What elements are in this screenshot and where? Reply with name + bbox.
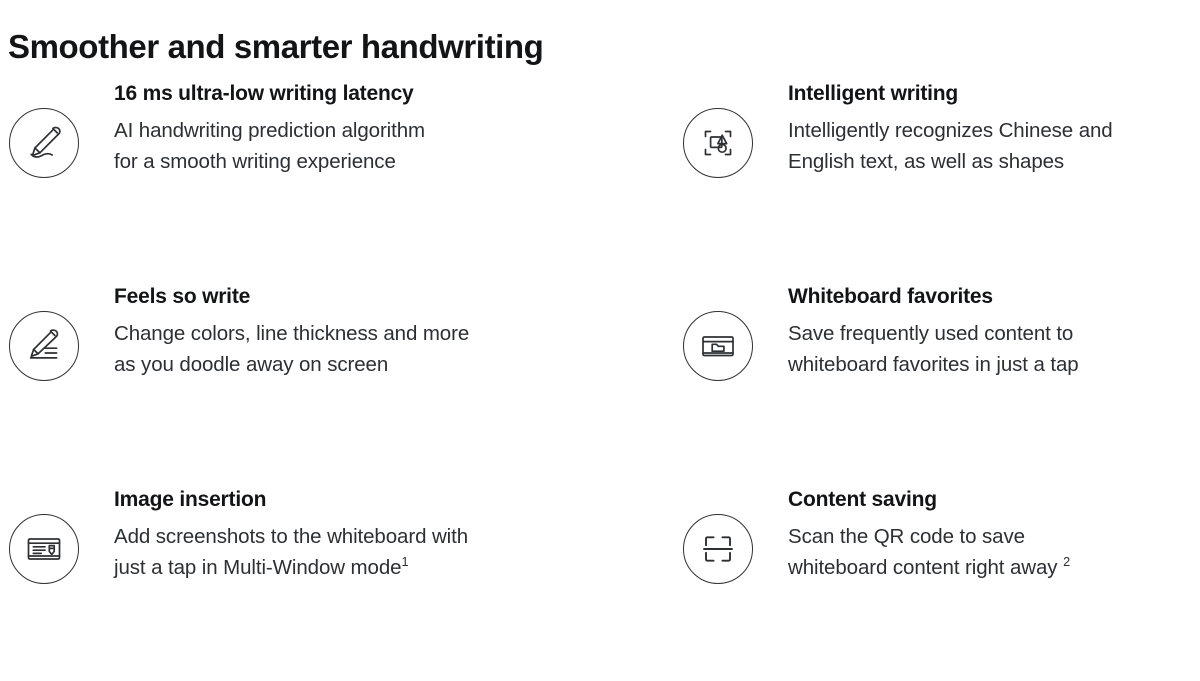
feature-title: Feels so write	[114, 285, 469, 308]
footnote-marker: 2	[1063, 554, 1070, 569]
feature-desc-line-1: AI handwriting prediction algorithm	[114, 115, 425, 146]
feature-text: Feels so write Change colors, line thick…	[114, 285, 469, 380]
feature-item-intelligent-writing: Intelligent writing Intelligently recogn…	[676, 72, 1200, 275]
feature-desc-line-2: English text, as well as shapes	[788, 146, 1113, 177]
feature-desc-line-1: Scan the QR code to save	[788, 521, 1070, 552]
page-title: Smoother and smarter handwriting	[8, 28, 543, 66]
feature-title: 16 ms ultra-low writing latency	[114, 82, 425, 105]
feature-desc-line-2-text: English text, as well as shapes	[788, 150, 1064, 173]
feature-text: Whiteboard favorites Save frequently use…	[788, 285, 1079, 380]
footnote-marker: 1	[401, 554, 408, 569]
feature-description: AI handwriting prediction algorithm for …	[114, 115, 425, 177]
feature-title: Whiteboard favorites	[788, 285, 1079, 308]
whiteboard-folder-icon	[683, 311, 753, 381]
pen-stroke-icon	[9, 108, 79, 178]
feature-desc-line-2: for a smooth writing experience	[114, 146, 425, 177]
feature-description: Change colors, line thickness and more a…	[114, 318, 469, 380]
feature-desc-line-2: as you doodle away on screen	[114, 349, 469, 380]
qr-scan-frame-icon	[683, 514, 753, 584]
feature-item-content-saving: Content saving Scan the QR code to save …	[676, 478, 1200, 681]
feature-text: Image insertion Add screenshots to the w…	[114, 488, 468, 583]
feature-item-image-insertion: Image insertion Add screenshots to the w…	[0, 478, 676, 681]
feature-description: Intelligently recognizes Chinese and Eng…	[788, 115, 1113, 177]
feature-desc-line-2: whiteboard favorites in just a tap	[788, 349, 1079, 380]
feature-desc-line-2-text: whiteboard content right away	[788, 556, 1063, 579]
feature-desc-line-2: whiteboard content right away 2	[788, 552, 1070, 583]
feature-desc-line-2-text: whiteboard favorites in just a tap	[788, 353, 1079, 376]
feature-item-whiteboard-favorites: Whiteboard favorites Save frequently use…	[676, 275, 1200, 478]
feature-description: Add screenshots to the whiteboard with j…	[114, 521, 468, 583]
feature-description: Save frequently used content to whiteboa…	[788, 318, 1079, 380]
shape-recognition-scan-icon	[683, 108, 753, 178]
feature-desc-line-2: just a tap in Multi-Window mode1	[114, 552, 468, 583]
feature-text: Content saving Scan the QR code to save …	[788, 488, 1070, 583]
feature-title: Intelligent writing	[788, 82, 1113, 105]
feature-desc-line-1: Change colors, line thickness and more	[114, 318, 469, 349]
feature-desc-line-2-text: as you doodle away on screen	[114, 353, 388, 376]
pen-lines-icon	[9, 311, 79, 381]
feature-title: Image insertion	[114, 488, 468, 511]
feature-highlights-page: Smoother and smarter handwriting 16 ms u…	[0, 0, 1200, 622]
feature-desc-line-1: Save frequently used content to	[788, 318, 1079, 349]
feature-desc-line-1: Add screenshots to the whiteboard with	[114, 521, 468, 552]
features-grid: 16 ms ultra-low writing latency AI handw…	[0, 72, 1200, 681]
image-card-pen-icon	[9, 514, 79, 584]
feature-text: 16 ms ultra-low writing latency AI handw…	[114, 82, 425, 177]
feature-description: Scan the QR code to save whiteboard cont…	[788, 521, 1070, 583]
feature-desc-line-2-text: for a smooth writing experience	[114, 150, 396, 173]
feature-item-writing-latency: 16 ms ultra-low writing latency AI handw…	[0, 72, 676, 275]
feature-item-feels-so-write: Feels so write Change colors, line thick…	[0, 275, 676, 478]
feature-text: Intelligent writing Intelligently recogn…	[788, 82, 1113, 177]
feature-desc-line-1: Intelligently recognizes Chinese and	[788, 115, 1113, 146]
feature-title: Content saving	[788, 488, 1070, 511]
feature-desc-line-2-text: just a tap in Multi-Window mode	[114, 556, 401, 579]
